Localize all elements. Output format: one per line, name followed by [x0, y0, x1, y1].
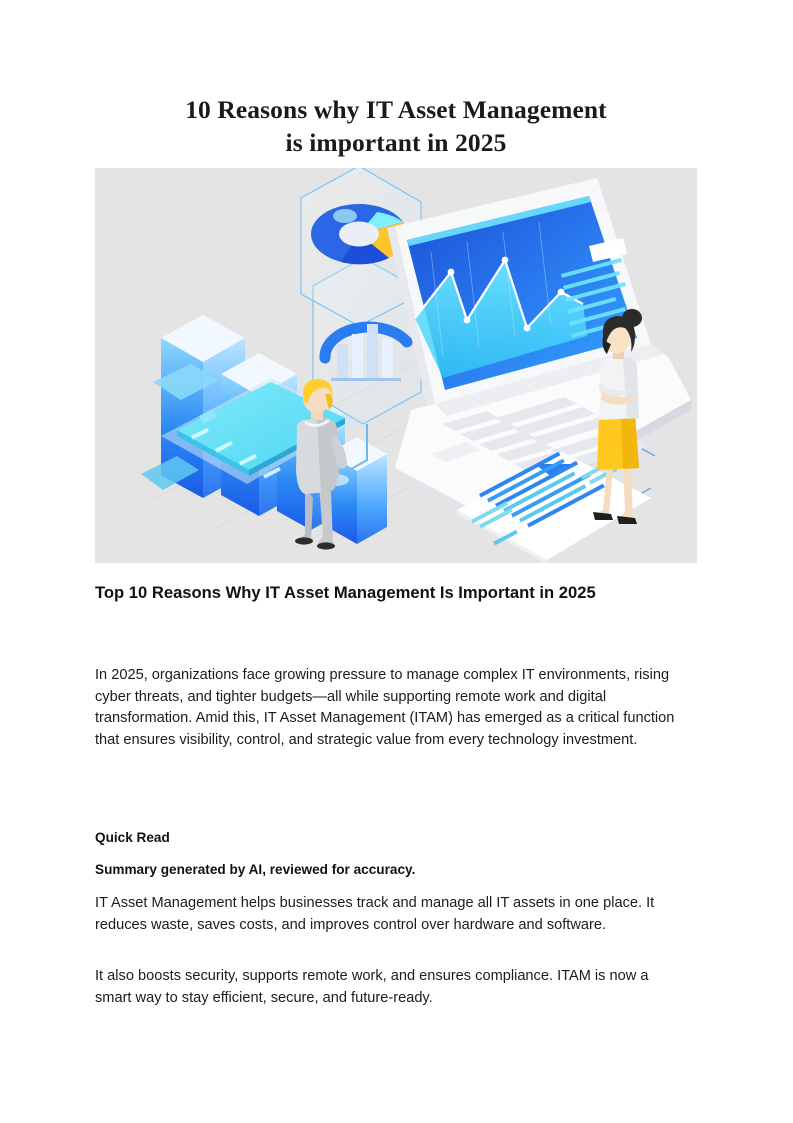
summary-paragraph-2: It also boosts security, supports remote… [95, 966, 687, 1010]
page-title-line-1: 10 Reasons why IT Asset Management [95, 93, 697, 126]
page-title: 10 Reasons why IT Asset Management is im… [95, 93, 697, 159]
intro-paragraph: In 2025, organizations face growing pres… [95, 665, 685, 751]
section-heading: Top 10 Reasons Why IT Asset Management I… [95, 580, 695, 606]
page-title-line-2: is important in 2025 [95, 126, 697, 159]
ai-summary-note: Summary generated by AI, reviewed for ac… [95, 862, 415, 877]
hero-image: Bank [95, 168, 697, 563]
document-page: 10 Reasons why IT Asset Management is im… [0, 0, 793, 1123]
summary-paragraph-1: IT Asset Management helps businesses tra… [95, 893, 687, 937]
quick-read-label: Quick Read [95, 830, 170, 845]
